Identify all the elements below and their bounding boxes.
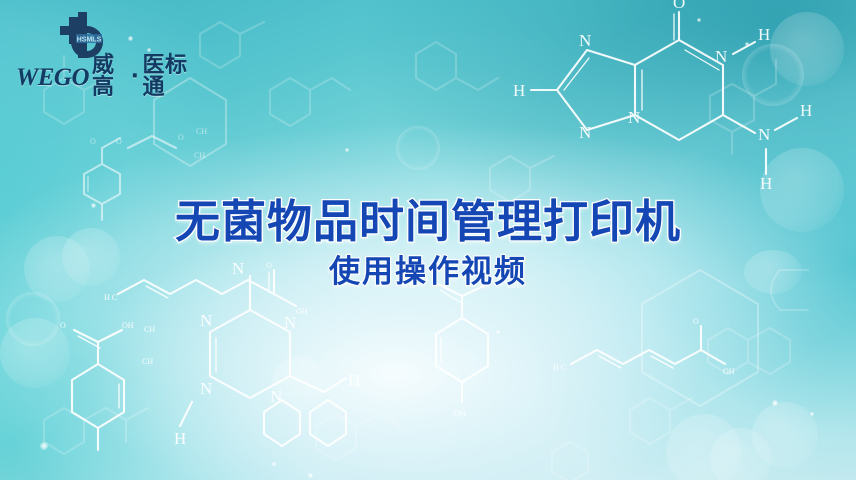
wordmark-chinese-product: 医标通	[143, 55, 196, 99]
sparkle-dot	[40, 442, 48, 450]
svg-text:CH: CH	[194, 151, 205, 160]
molecule-faint-cluster-11	[540, 430, 660, 480]
sparkle-dot	[272, 462, 276, 466]
sparkle-dot	[745, 42, 749, 46]
molecule-faint-cluster-2	[400, 30, 520, 120]
svg-text:H: H	[760, 174, 772, 193]
title-block: 无菌物品时间管理打印机 使用操作视频	[0, 198, 856, 289]
sparkle-dot	[772, 400, 778, 406]
molecule-faint-cluster-7	[30, 390, 180, 480]
brand-logo[interactable]: HSMLS WEGO 威高 · 医标通	[16, 10, 196, 94]
sparkle-dot	[345, 148, 349, 152]
page-title: 无菌物品时间管理打印机	[0, 198, 856, 246]
brand-wordmark: WEGO 威高 · 医标通	[16, 63, 196, 91]
sparkle-dot	[496, 330, 500, 334]
molecule-faint-cluster-9	[300, 400, 430, 480]
sparkle-dot	[810, 412, 814, 416]
svg-text:H C: H C	[553, 363, 566, 372]
wordmark-latin: WEGO	[16, 65, 89, 90]
svg-text:N: N	[284, 313, 296, 332]
svg-text:OH: OH	[454, 409, 466, 418]
svg-text:O: O	[673, 0, 685, 12]
wordmark-chinese: 威高	[92, 55, 128, 99]
page-subtitle: 使用操作视频	[0, 255, 856, 289]
sparkle-dot	[308, 473, 313, 478]
svg-text:H: H	[758, 25, 770, 44]
molecule-faint-cluster-12	[180, 0, 310, 80]
wordmark-separator: ·	[131, 66, 140, 88]
svg-text:N: N	[579, 31, 591, 50]
molecule-faint-cluster-3	[680, 50, 820, 170]
svg-text:OH: OH	[122, 321, 134, 330]
svg-text:H C: H C	[104, 293, 117, 302]
svg-text:CH: CH	[142, 357, 153, 366]
video-title-slide: O N H N N H H N N H	[0, 0, 856, 480]
svg-text:CH: CH	[196, 127, 207, 136]
svg-text:H: H	[348, 371, 360, 390]
sparkle-dot	[697, 18, 701, 22]
svg-text:CH: CH	[144, 325, 155, 334]
logo-mark-text: HSMLS	[77, 37, 102, 44]
svg-text:O: O	[60, 321, 66, 330]
svg-text:O: O	[178, 133, 184, 142]
svg-text:N: N	[200, 311, 212, 330]
svg-text:N: N	[628, 108, 640, 127]
